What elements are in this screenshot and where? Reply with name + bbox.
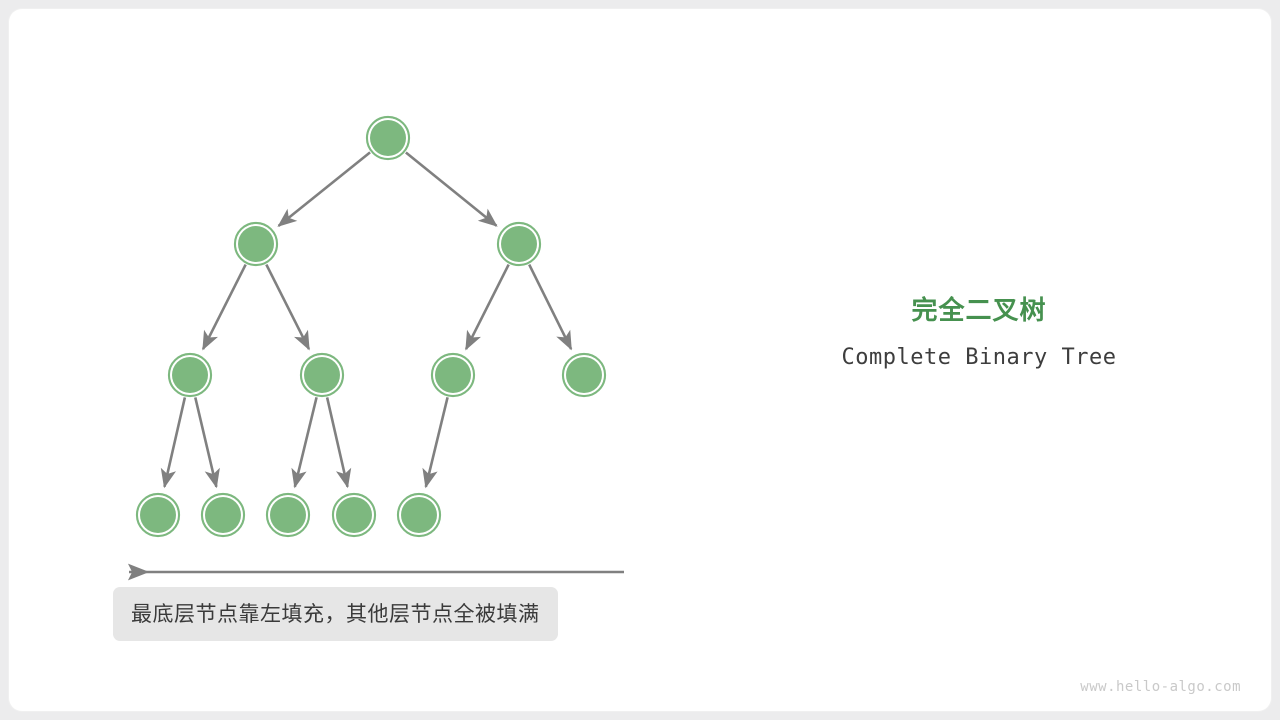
node-fill xyxy=(566,357,602,393)
tree-edges xyxy=(164,152,571,486)
node-fill xyxy=(140,497,176,533)
tree-node xyxy=(563,354,605,396)
node-fill xyxy=(270,497,306,533)
tree-edge xyxy=(266,265,309,350)
node-fill xyxy=(435,357,471,393)
tree-edge xyxy=(195,397,216,486)
legend-title-en: Complete Binary Tree xyxy=(769,345,1189,370)
tree-edge xyxy=(327,397,347,486)
tree-node xyxy=(202,494,244,536)
tree-edge xyxy=(279,152,370,225)
tree-edge xyxy=(466,265,509,350)
tree-node xyxy=(267,494,309,536)
tree-node xyxy=(498,223,540,265)
tree-node xyxy=(301,354,343,396)
content-card: 完全二叉树 Complete Binary Tree 最底层节点靠左填充，其他层… xyxy=(9,9,1271,711)
tree-edge xyxy=(295,397,317,486)
caption-pill: 最底层节点靠左填充，其他层节点全被填满 xyxy=(113,587,558,641)
tree-node xyxy=(367,117,409,159)
tree-node xyxy=(333,494,375,536)
tree-edge xyxy=(406,152,497,225)
node-fill xyxy=(172,357,208,393)
screenshot-root: 完全二叉树 Complete Binary Tree 最底层节点靠左填充，其他层… xyxy=(0,0,1280,720)
tree-node xyxy=(137,494,179,536)
node-fill xyxy=(205,497,241,533)
tree-edge xyxy=(426,397,448,486)
legend-block: 完全二叉树 Complete Binary Tree xyxy=(769,294,1189,370)
node-fill xyxy=(370,120,406,156)
tree-node xyxy=(235,223,277,265)
node-fill xyxy=(501,226,537,262)
node-fill xyxy=(401,497,437,533)
tree-edge xyxy=(164,397,184,486)
tree-node xyxy=(432,354,474,396)
tree-edge xyxy=(203,265,246,350)
tree-node xyxy=(398,494,440,536)
legend-title-cn: 完全二叉树 xyxy=(769,294,1189,328)
node-fill xyxy=(238,226,274,262)
node-fill xyxy=(336,497,372,533)
site-watermark: www.hello-algo.com xyxy=(1080,679,1241,695)
tree-edge xyxy=(529,265,571,349)
tree-nodes xyxy=(137,117,605,536)
tree-node xyxy=(169,354,211,396)
node-fill xyxy=(304,357,340,393)
